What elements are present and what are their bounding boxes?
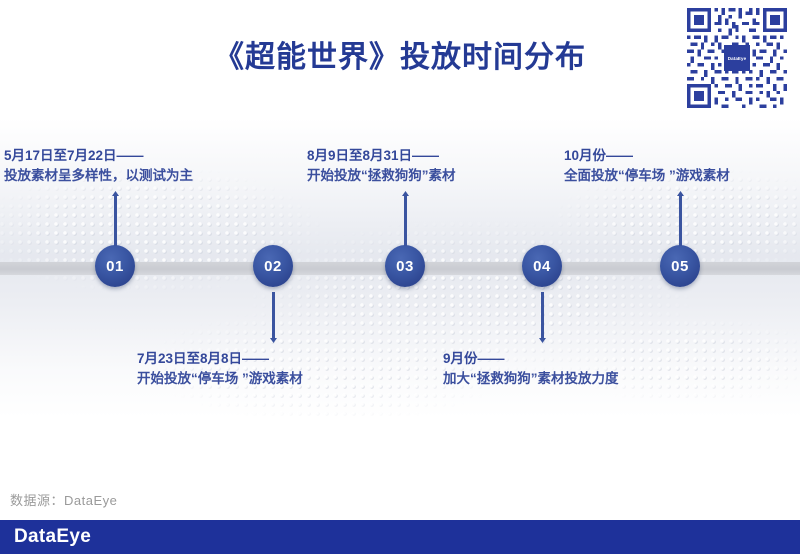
timeline-node-05-label: 05 <box>671 258 689 275</box>
timeline-node-01-label: 01 <box>106 258 124 275</box>
arrow-down-icon-04 <box>538 292 547 344</box>
arrow-up-icon-01 <box>111 190 120 246</box>
timeline-node-05[interactable]: 05 <box>660 245 700 287</box>
arrow-down-icon-02 <box>269 292 278 344</box>
annotation-04-period: 9月份—— <box>443 349 619 369</box>
timeline-node-02[interactable]: 02 <box>253 245 293 287</box>
annotation-05-description: 全面投放“停车场 ”游戏素材 <box>564 166 730 186</box>
footer-bar: DataEye <box>0 520 800 554</box>
annotation-01-description: 投放素材呈多样性，以测试为主 <box>4 166 193 186</box>
page-title: 《超能世界》投放时间分布 <box>0 32 800 76</box>
annotation-02-period: 7月23日至8月8日—— <box>137 349 303 369</box>
annotation-04: 9月份—— 加大“拯救狗狗”素材投放力度 <box>443 349 619 390</box>
qr-code[interactable]: DataEye <box>687 8 787 108</box>
slide-canvas: 《超能世界》投放时间分布 <box>0 0 800 554</box>
timeline-node-02-label: 02 <box>264 258 282 275</box>
timeline-node-03-label: 03 <box>396 258 414 275</box>
annotation-01-period: 5月17日至7月22日—— <box>4 146 193 166</box>
timeline-node-03[interactable]: 03 <box>385 245 425 287</box>
timeline-node-01[interactable]: 01 <box>95 245 135 287</box>
arrow-up-icon-05 <box>676 190 685 246</box>
annotation-05: 10月份—— 全面投放“停车场 ”游戏素材 <box>564 146 730 187</box>
qr-center-brand-label: DataEye <box>724 45 750 71</box>
annotation-01: 5月17日至7月22日—— 投放素材呈多样性，以测试为主 <box>4 146 193 187</box>
annotation-02-description: 开始投放“停车场 ”游戏素材 <box>137 369 303 389</box>
footer-brand-logo: DataEye <box>14 526 91 548</box>
annotation-02: 7月23日至8月8日—— 开始投放“停车场 ”游戏素材 <box>137 349 303 390</box>
timeline-node-04-label: 04 <box>533 258 551 275</box>
annotation-03-period: 8月9日至8月31日—— <box>307 146 456 166</box>
annotation-04-description: 加大“拯救狗狗”素材投放力度 <box>443 369 619 389</box>
data-source-note: 数据源：DataEye <box>10 490 117 509</box>
annotation-03-description: 开始投放“拯救狗狗”素材 <box>307 166 456 186</box>
annotation-05-period: 10月份—— <box>564 146 730 166</box>
annotation-03: 8月9日至8月31日—— 开始投放“拯救狗狗”素材 <box>307 146 456 187</box>
arrow-up-icon-03 <box>401 190 410 246</box>
timeline-node-04[interactable]: 04 <box>522 245 562 287</box>
